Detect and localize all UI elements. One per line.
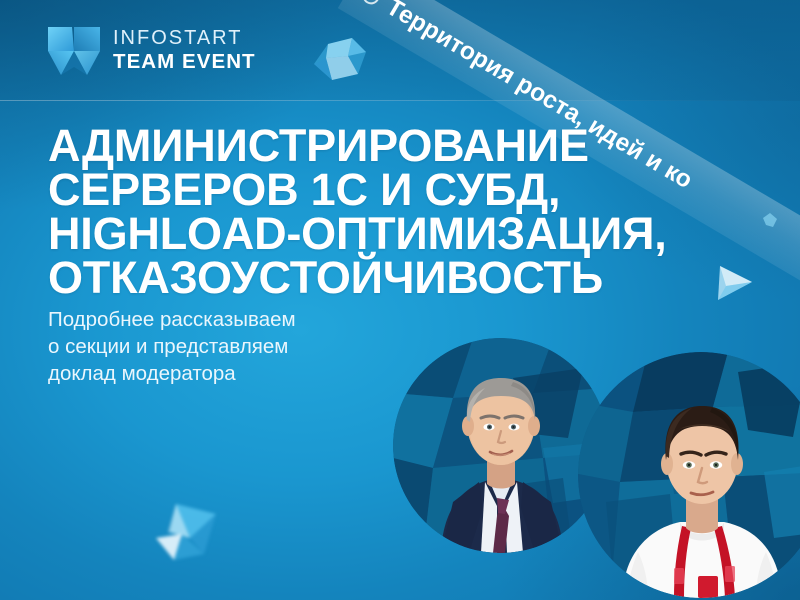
event-announcement-banner: Территория роста, идей и ко INFOS — [0, 0, 800, 600]
subtitle-line-3: доклад модератора — [48, 360, 408, 387]
subtitle-block: Подробнее рассказываем о секции и предст… — [48, 306, 408, 387]
headline-line-4: ОТКАЗОУСТОЙЧИВОСТЬ — [48, 256, 748, 300]
page-title: АДМИНИСТРИРОВАНИЕ СЕРВЕРОВ 1С И СУБД, HI… — [48, 124, 748, 300]
logo-line-infostart: INFOSTART — [113, 28, 256, 52]
speaker-right-portrait-image — [578, 352, 800, 598]
gem-crystal-left — [142, 498, 226, 578]
speaker-left-portrait-image — [393, 338, 608, 553]
subtitle-line-1: Подробнее рассказываем — [48, 306, 408, 333]
logo-line-team-event: TEAM EVENT — [113, 52, 256, 73]
header-divider — [0, 100, 800, 101]
subtitle-line-2: о секции и представляем — [48, 333, 408, 360]
headline-line-2: СЕРВЕРОВ 1С И СУБД, — [48, 168, 748, 212]
circle-outline-icon — [360, 0, 383, 7]
infostart-team-event-logo[interactable]: INFOSTART TEAM EVENT — [48, 23, 256, 77]
speaker-left-avatar[interactable] — [393, 338, 608, 553]
speaker-right-avatar[interactable] — [578, 352, 800, 598]
headline-line-1: АДМИНИСТРИРОВАНИЕ — [48, 124, 748, 168]
headline-line-3: HIGHLOAD-ОПТИМИЗАЦИЯ, — [48, 212, 748, 256]
infostart-diamond-logo-mark — [48, 23, 100, 77]
logo-wordmark: INFOSTART TEAM EVENT — [113, 28, 256, 73]
